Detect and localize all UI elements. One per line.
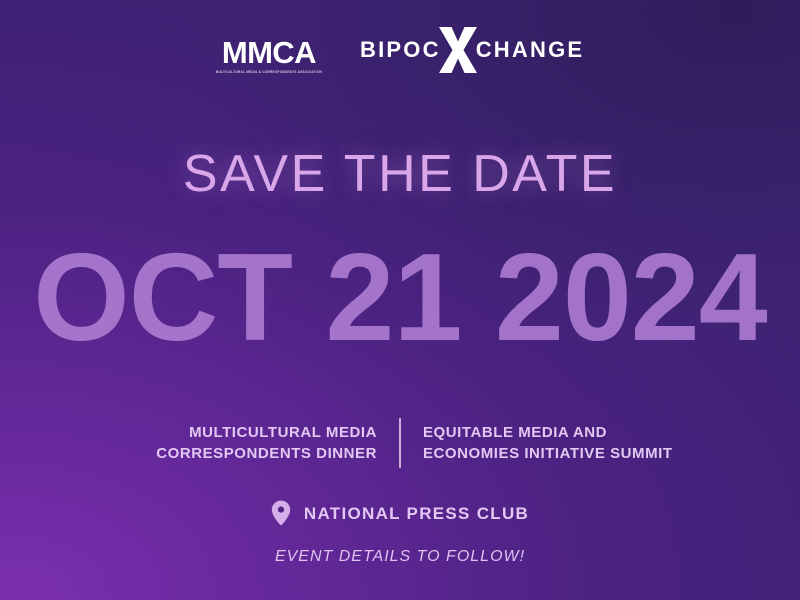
- save-the-date-heading: SAVE THE DATE: [0, 148, 800, 200]
- event-summit-line2: ECONOMIES INITIATIVE SUMMIT: [423, 443, 699, 464]
- event-list: MULTICULTURAL MEDIA CORRESPONDENTS DINNE…: [0, 418, 800, 468]
- bipoc-wordmark-part1: BIPOC: [360, 39, 441, 61]
- mmca-wordmark: MMCA: [222, 37, 316, 68]
- mmca-subtitle: MULTICULTURAL MEDIA & CORRESPONDENTS ASS…: [216, 71, 322, 75]
- event-date: OCT 21 2024: [0, 236, 800, 360]
- event-dinner-line1: MULTICULTURAL MEDIA: [101, 422, 377, 443]
- event-summit-line1: EQUITABLE MEDIA AND: [423, 422, 699, 443]
- event-dinner-line2: CORRESPONDENTS DINNER: [101, 443, 377, 464]
- event-summit: EQUITABLE MEDIA AND ECONOMIES INITIATIVE…: [401, 422, 699, 465]
- venue-name: NATIONAL PRESS CLUB: [304, 505, 529, 522]
- map-pin-icon: [271, 500, 291, 526]
- bipoc-wordmark-part2: CHANGE: [476, 39, 585, 61]
- bipocxchange-logo: BIPOC CHANGE: [360, 27, 584, 74]
- mmca-logo: MMCA MULTICULTURAL MEDIA & CORRESPONDENT…: [216, 37, 322, 74]
- event-dinner: MULTICULTURAL MEDIA CORRESPONDENTS DINNE…: [101, 422, 399, 465]
- logo-row: MMCA MULTICULTURAL MEDIA & CORRESPONDENT…: [0, 27, 800, 74]
- bipoc-x-glyph-icon: [438, 27, 478, 73]
- venue-row: NATIONAL PRESS CLUB: [0, 500, 800, 526]
- footer-note: EVENT DETAILS TO FOLLOW!: [0, 549, 800, 565]
- save-the-date-flyer: MMCA MULTICULTURAL MEDIA & CORRESPONDENT…: [0, 0, 800, 600]
